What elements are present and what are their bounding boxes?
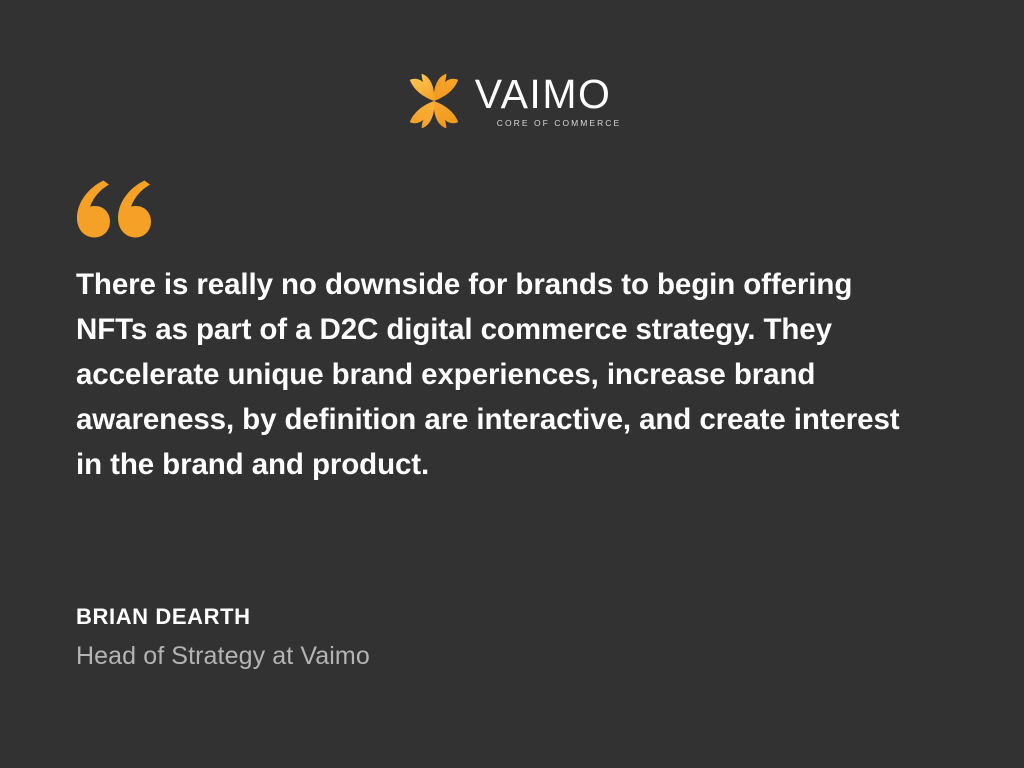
- vaimo-logo: VAIMO CORE OF COMMERCE: [0, 70, 1024, 132]
- quote-text: There is really no downside for brands t…: [76, 262, 906, 487]
- logo-tagline: CORE OF COMMERCE: [497, 118, 621, 128]
- attribution: BRIAN DEARTH Head of Strategy at Vaimo: [76, 603, 370, 673]
- quote-slide: VAIMO CORE OF COMMERCE There is really n…: [0, 0, 1024, 768]
- vaimo-x-mark-icon: [403, 70, 465, 132]
- author-title: Head of Strategy at Vaimo: [76, 639, 370, 673]
- logo-wordmark: VAIMO: [475, 76, 612, 114]
- author-name: BRIAN DEARTH: [76, 603, 370, 631]
- open-quote-icon: [74, 178, 154, 240]
- logo-text-group: VAIMO CORE OF COMMERCE: [475, 74, 621, 128]
- logo-inner: VAIMO CORE OF COMMERCE: [403, 70, 621, 132]
